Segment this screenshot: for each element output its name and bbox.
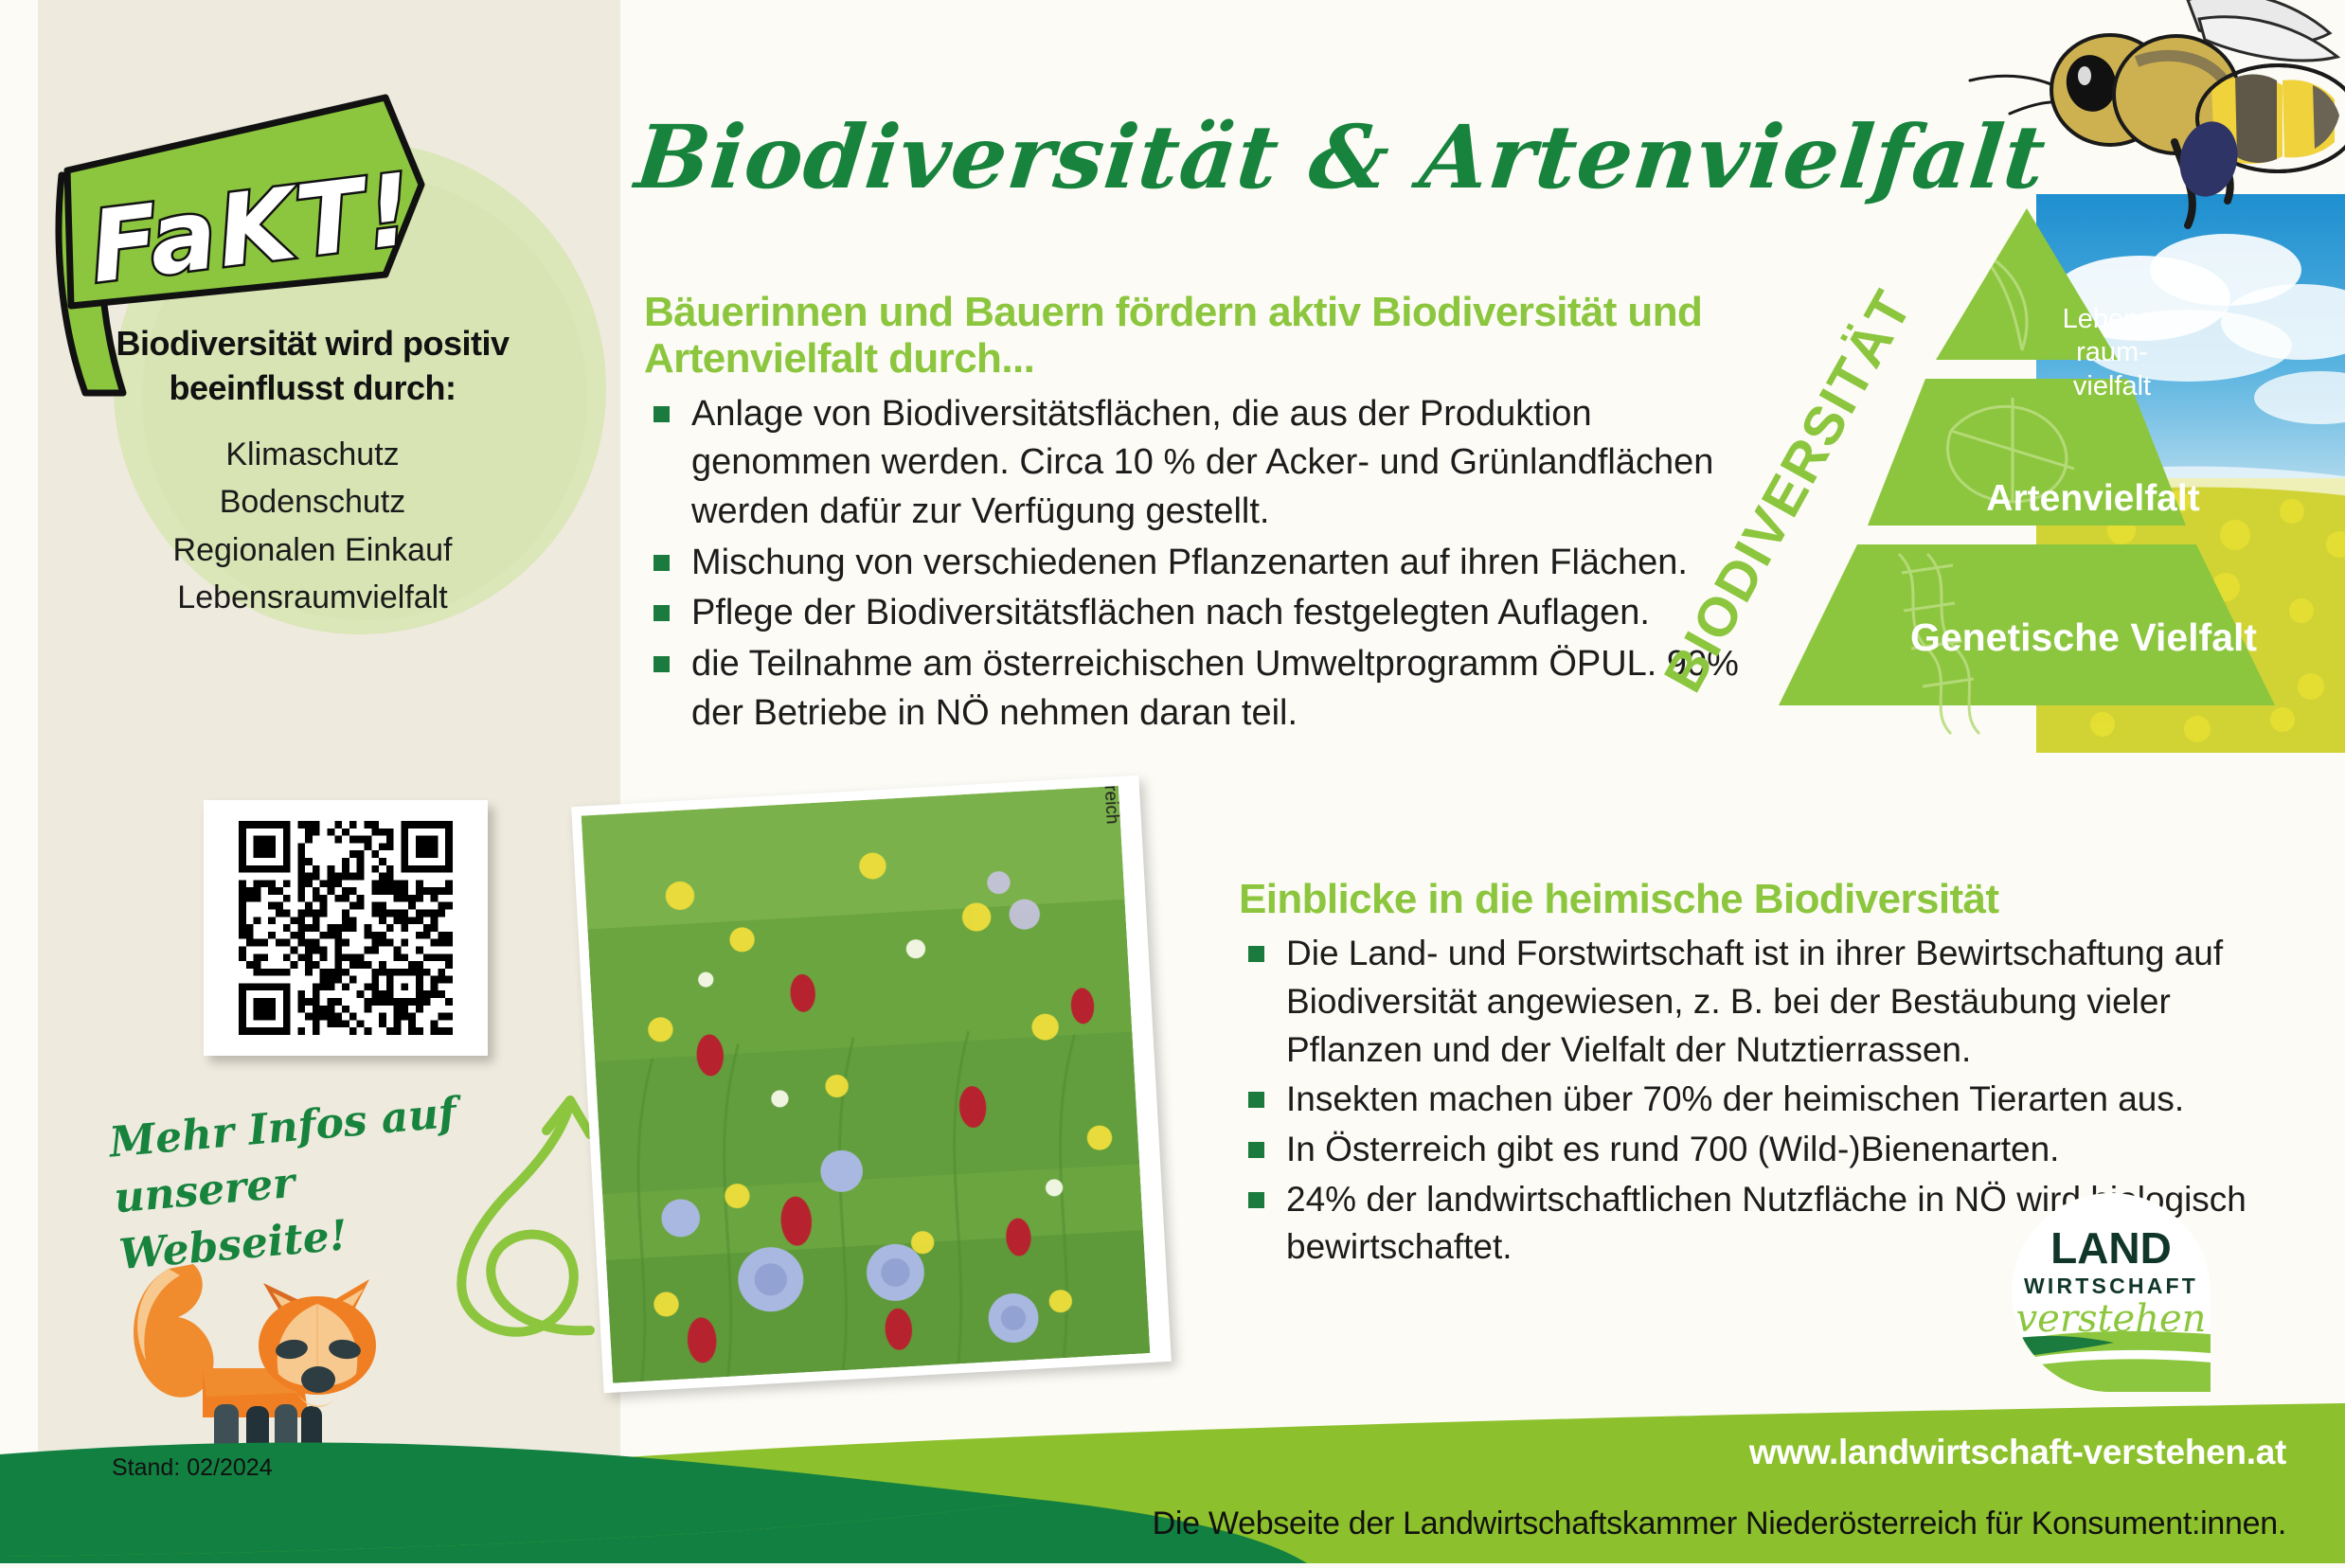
meadow-photo: Foto: Elisabeth Kerschbaumer/LK Niederös… (571, 775, 1172, 1394)
brand-logo: LAND WIRTSCHAFT verstehen (2010, 1191, 2213, 1395)
footer-url[interactable]: www.landwirtschaft-verstehen.at (1749, 1433, 2286, 1472)
curly-arrow-icon (431, 1089, 611, 1345)
footer-stand-date: Stand: 02/2024 (112, 1454, 273, 1482)
bullet-item: Insekten machen über 70% der heimischen … (1239, 1076, 2290, 1124)
badge-list-item: Bodenschutz (104, 478, 521, 526)
bullet-item: In Österreich gibt es rund 700 (Wild-)Bi… (1239, 1126, 2290, 1174)
badge-list-item: Klimaschutz (104, 431, 521, 478)
bee-illustration (1951, 0, 2345, 265)
section-farmers-promote: Bäuerinnen und Bauern fördern aktiv Biod… (644, 289, 1743, 739)
svg-text:LAND: LAND (2050, 1223, 2172, 1273)
badge-list-item: Lebensraumvielfalt (104, 574, 521, 621)
background-left-margin (0, 0, 38, 1563)
svg-text:WIRTSCHAFT: WIRTSCHAFT (2024, 1274, 2198, 1298)
svg-text:verstehen: verstehen (2016, 1297, 2207, 1341)
badge-heading: Biodiversität wird positivbeeinflusst du… (104, 322, 521, 411)
section1-bullet-list: Anlage von Biodiversitätsflächen, die au… (644, 390, 1743, 739)
bullet-item: die Teilnahme am österreichischen Umwelt… (644, 640, 1743, 738)
bullet-item: Die Land- und Forstwirtschaft ist in ihr… (1239, 930, 2290, 1074)
badge-list-item: Regionalen Einkauf (104, 526, 521, 574)
qr-code[interactable] (204, 800, 488, 1056)
biodiversity-pyramid: Lebens-raum-vielfalt Artenvielfalt Genet… (1695, 194, 2345, 753)
bullet-item: Mischung von verschiedenen Pflanzenarten… (644, 539, 1743, 588)
poster-canvas: FaKT! Biodiversität wird positivbeeinflu… (0, 0, 2345, 1563)
badge-item-list: KlimaschutzBodenschutzRegionalen Einkauf… (104, 431, 521, 621)
section1-heading: Bäuerinnen und Bauern fördern aktiv Biod… (644, 289, 1714, 383)
section2-heading: Einblicke in die heimische Biodiversität (1239, 876, 2290, 922)
footer-tagline: Die Webseite der Landwirtschaftskammer N… (1153, 1506, 2286, 1542)
bullet-item: Anlage von Biodiversitätsflächen, die au… (644, 390, 1743, 537)
bullet-item: Pflege der Biodiversitätsflächen nach fe… (644, 589, 1743, 638)
page-title: Biodiversität & Artenvielfalt (631, 106, 2050, 208)
